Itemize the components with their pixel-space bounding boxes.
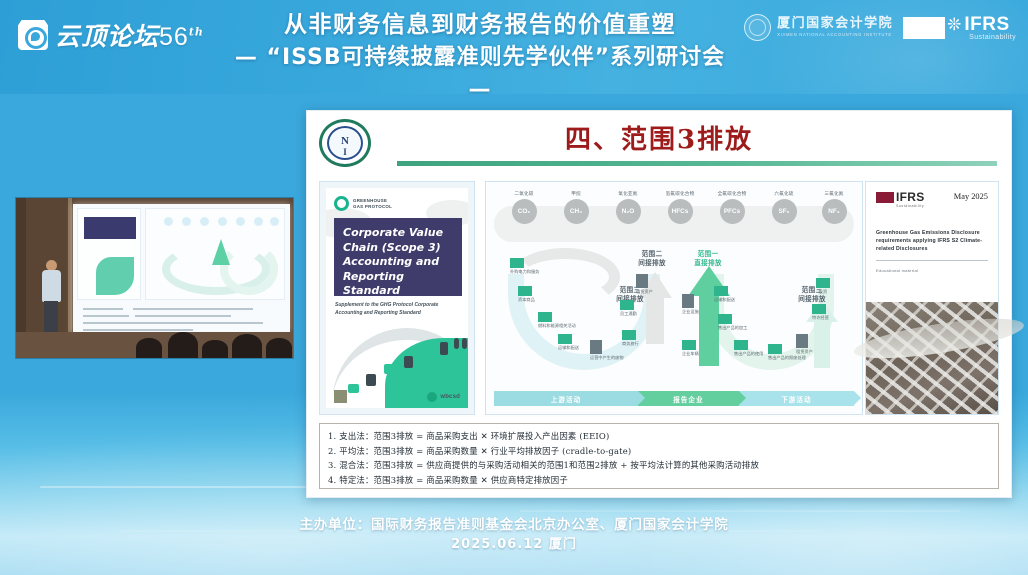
downstream-item-2: 售出产品的使用 (734, 340, 763, 357)
value-chain-stage-bar: 上游活动 报告企业 下游活动 (494, 391, 854, 406)
publication-highway-photo (866, 302, 998, 414)
cover-icon (366, 374, 376, 386)
projected-text-line (83, 308, 123, 310)
gas-item-pfcs: 全氟碳化合物 PFCs (710, 190, 754, 224)
projection-screen (73, 204, 290, 333)
gas-formula: N₂O (616, 199, 641, 224)
gas-formula: CO₂ (512, 199, 537, 224)
projected-text-line (83, 322, 263, 324)
gas-item-ch4: 甲烷 CH₄ (554, 190, 598, 224)
speaker-figure (40, 260, 62, 334)
gas-item-co2: 二氧化碳 CO₂ (502, 190, 546, 224)
projected-scope1-arrow (212, 239, 230, 265)
cover-title-band: Corporate Value Chain (Scope 3) Accounti… (334, 218, 462, 296)
stage-reporting: 报告企业 (638, 391, 739, 406)
icon-label: 运输和配送 (714, 297, 735, 303)
icon-label: 投资 (816, 289, 830, 295)
audience-head (232, 334, 262, 358)
gas-item-hfcs: 氢氟碳化合物 HFCs (658, 190, 702, 224)
publication-divider (876, 260, 988, 261)
upstream-item-6: 员工通勤 (620, 300, 637, 317)
footer-date-location: 2025.06.12 厦门 (0, 535, 1028, 555)
reporting-item-0: 企业设施 (682, 294, 699, 315)
formula-line-3: 3. 混合法：范围3排放 = 供应商提供的与采购活动相关的范围1和范围2排放 +… (328, 458, 990, 473)
downstream-item-5: 特许经营 (812, 304, 829, 321)
formula-line-4: 4. 特定法：范围3排放 = 商品采购数量 ✕ 供应商特定排放因子 (328, 473, 990, 488)
upstream-item-1: 资本商品 (518, 286, 535, 303)
gas-label: 氧化亚氮 (606, 190, 650, 197)
ifrs-logo-block (903, 17, 945, 39)
xnai-name-cn: 厦门国家会计学院 (777, 17, 893, 31)
upstream-item-7: 租赁资产 (636, 274, 653, 295)
scope3-calculation-methods: 1. 支出法：范围3排放 = 商品采购支出 ✕ 环境扩展投入产出因素 (EEIO… (319, 423, 999, 489)
gas-item-nf3: 三氟化氮 NF₃ (812, 190, 856, 224)
publication-kind: Educational material (876, 268, 988, 273)
ghg-ring-icon (334, 196, 349, 211)
scope1-arrow-stem (699, 294, 719, 366)
audience-head (266, 338, 292, 358)
stage-downstream: 下游活动 (739, 391, 854, 406)
icon-label: 运营中产生的废物 (590, 355, 624, 361)
event-footer: 主办单位：国际财务报告准则基金会北京办公室、厦门国家会计学院 2025.06.1… (0, 503, 1028, 575)
publication-brand: IFRS (896, 191, 925, 203)
icon-label: 运输和配送 (558, 345, 579, 351)
projected-text-line (135, 315, 231, 317)
formula-line-2: 2. 平均法：范围3排放 = 商品采购数量 ✕ 行业平均排放因子 (cradle… (328, 444, 990, 459)
event-title-line1: 从非财务信息到财务报告的价值重塑 (220, 8, 740, 42)
icon-label: 企业车辆 (682, 351, 699, 357)
projected-gas-dot (182, 217, 191, 226)
ifrs-sustainability-label: Sustainability (969, 34, 1016, 41)
webinar-stage: 云顶论坛56th 从非财务信息到财务报告的价值重塑 — “ISSB可持续披露准则… (0, 0, 1028, 575)
projected-gas-dot (218, 217, 227, 226)
gas-label: 全氟碳化合物 (710, 190, 754, 197)
forum-brand-text: 云顶论坛56th (55, 17, 204, 53)
gas-label: 二氧化碳 (502, 190, 546, 197)
ghg-logo-line1: GREENHOUSE (353, 198, 392, 204)
speaker-legs (44, 301, 58, 334)
cover-icon (384, 364, 396, 374)
publication-header: IFRS Sustainability May 2025 Greenhouse … (866, 182, 998, 302)
projected-cover-band (84, 217, 136, 239)
cover-icon (404, 356, 413, 368)
upstream-item-5: 商务旅行 (622, 330, 639, 347)
icon-label: 商务旅行 (622, 341, 639, 347)
icon-label: 资本商品 (518, 297, 535, 303)
wbcsd-logo: wbcsd (427, 392, 460, 402)
upstream-item-0: 外购电力和服务 (510, 258, 539, 275)
projected-text-line (83, 329, 193, 331)
forum-mark-icon (18, 20, 48, 50)
cover-person-icon (454, 338, 459, 349)
icon-label: 燃料和能源相关活动 (538, 323, 576, 329)
slide-title: 四、范围3排放 (307, 119, 1011, 156)
forum-edition-suffix: th (189, 26, 204, 39)
speaker-torso (42, 270, 61, 302)
gas-formula: CH₄ (564, 199, 589, 224)
ghg-logo-line2: GAS PROTOCOL (353, 204, 392, 210)
ifrs-logo: ❊ IFRS Sustainability (903, 15, 1016, 41)
slide-header: N I 四、范围3排放 (307, 111, 1011, 173)
value-chain-diagram[interactable]: 二氧化碳 CO₂ 甲烷 CH₄ 氧化亚氮 N₂O 氢氟碳化合物 HFCs (485, 181, 863, 415)
ifrs-publication-cover[interactable]: IFRS Sustainability May 2025 Greenhouse … (865, 181, 999, 415)
projected-gas-dot (236, 217, 245, 226)
upstream-item-2: 燃料和能源相关活动 (538, 312, 576, 329)
projected-text-line (133, 308, 253, 310)
scope2-label: 范围二 间接排放 (626, 250, 678, 268)
audience-head (168, 332, 198, 358)
cover-title: Corporate Value Chain (Scope 3) Accounti… (343, 226, 453, 299)
event-banner: 云顶论坛56th 从非财务信息到财务报告的价值重塑 — “ISSB可持续披露准则… (0, 0, 1028, 94)
icon-label: 特许经营 (812, 315, 829, 321)
icon-label: 售出产品的加工 (718, 325, 747, 331)
ghg-gases-row: 二氧化碳 CO₂ 甲烷 CH₄ 氧化亚氮 N₂O 氢氟碳化合物 HFCs (494, 190, 854, 246)
projected-gas-dot (200, 217, 209, 226)
projected-gas-dot (164, 217, 173, 226)
organizer-logos: 厦门国家会计学院 XIAMEN NATIONAL ACCOUNTING INST… (744, 14, 1016, 41)
downstream-item-6: 投资 (816, 278, 830, 295)
forum-edition-number: 56 (159, 23, 189, 51)
ifrs-flower-icon: ❊ (947, 16, 961, 33)
downstream-item-0: 运输和配送 (714, 286, 735, 303)
downstream-item-4: 租赁资产 (796, 334, 813, 355)
icon-label: 租赁资产 (636, 289, 653, 295)
projected-cover-slide (77, 208, 141, 300)
publication-brand-sub: Sustainability (896, 204, 988, 208)
projected-gas-dot (254, 217, 263, 226)
cover-person-icon (462, 338, 467, 349)
scope3-downstream-label: 范围三 间接排放 (786, 286, 838, 304)
cover-partner-mark (334, 390, 347, 403)
stage-upstream: 上游活动 (494, 391, 638, 406)
gas-item-sf6: 六氟化硫 SF₆ (762, 190, 806, 224)
xnai-seal-icon (744, 14, 771, 41)
presentation-slide[interactable]: N I 四、范围3排放 GREENHOUSE GAS PROTOCOL (306, 110, 1012, 498)
cover-icon (422, 348, 433, 357)
title-underline (397, 161, 997, 166)
speaker-video-feed[interactable] (16, 198, 293, 358)
gas-label: 甲烷 (554, 190, 598, 197)
slide-body: GREENHOUSE GAS PROTOCOL Corporate Value … (307, 173, 1011, 497)
publication-date: May 2025 (954, 192, 988, 201)
wbcsd-mark-icon (427, 392, 437, 402)
gas-formula: SF₆ (772, 199, 797, 224)
cover-icon (440, 342, 448, 355)
projected-gas-dot (270, 217, 279, 226)
ghg-protocol-logo: GREENHOUSE GAS PROTOCOL (334, 196, 392, 211)
scope1-label: 范围一 直接排放 (682, 250, 734, 268)
forum-brand-name: 云顶论坛 (55, 22, 159, 51)
ifrs-mark-icon (876, 192, 894, 203)
cover-subtitle: Supplement to the GHG Protocol Corporate… (335, 302, 458, 317)
gas-label: 氢氟碳化合物 (658, 190, 702, 197)
icon-label: 租赁资产 (796, 349, 813, 355)
gas-formula: PFCs (720, 199, 745, 224)
gas-label: 六氟化硫 (762, 190, 806, 197)
projected-text-line (83, 315, 129, 317)
projected-chain-slide (145, 208, 285, 300)
audience-head (136, 338, 162, 358)
upstream-item-3: 运输和配送 (558, 334, 579, 351)
icon-label: 外购电力和服务 (510, 269, 539, 275)
gas-formula: HFCs (668, 199, 693, 224)
event-headline: 从非财务信息到财务报告的价值重塑 — “ISSB可持续披露准则先学伙伴”系列研讨… (220, 8, 740, 94)
publication-title: Greenhouse Gas Emissions Disclosure requ… (876, 229, 988, 253)
yunding-forum-logo: 云顶论坛56th (18, 17, 204, 53)
reporting-item-1: 企业车辆 (682, 340, 699, 357)
downstream-item-1: 售出产品的加工 (718, 314, 747, 331)
xnai-logo: 厦门国家会计学院 XIAMEN NATIONAL ACCOUNTING INST… (744, 14, 893, 41)
scope3-downstream-arrow-stem (814, 320, 830, 368)
ifrs-wordmark: IFRS (964, 15, 1009, 34)
icon-label: 售出产品的报废处理 (768, 355, 806, 361)
cover-footer: wbcsd (334, 390, 460, 403)
gas-label: 三氟化氮 (812, 190, 856, 197)
wbcsd-label: wbcsd (440, 394, 460, 400)
ghg-protocol-cover-image[interactable]: GREENHOUSE GAS PROTOCOL Corporate Value … (319, 181, 475, 415)
upstream-item-4: 运营中产生的废物 (590, 340, 624, 361)
projected-cover-graphic (96, 257, 134, 295)
xnai-name-en: XIAMEN NATIONAL ACCOUNTING INSTITUTE (777, 31, 893, 38)
icon-label: 员工通勤 (620, 311, 637, 317)
icon-label: 企业设施 (682, 309, 699, 315)
gas-item-n2o: 氧化亚氮 N₂O (606, 190, 650, 224)
gas-formula: NF₃ (822, 199, 847, 224)
cover-inner: GREENHOUSE GAS PROTOCOL Corporate Value … (326, 188, 468, 408)
formula-line-1: 1. 支出法：范围3排放 = 商品采购支出 ✕ 环境扩展投入产出因素 (EEIO… (328, 429, 990, 444)
audience-head (202, 340, 228, 358)
footer-organizers: 主办单位：国际财务报告准则基金会北京办公室、厦门国家会计学院 (0, 503, 1028, 535)
event-title-line2: — “ISSB可持续披露准则先学伙伴”系列研讨会 — (220, 42, 740, 94)
icon-label: 售出产品的使用 (734, 351, 763, 357)
